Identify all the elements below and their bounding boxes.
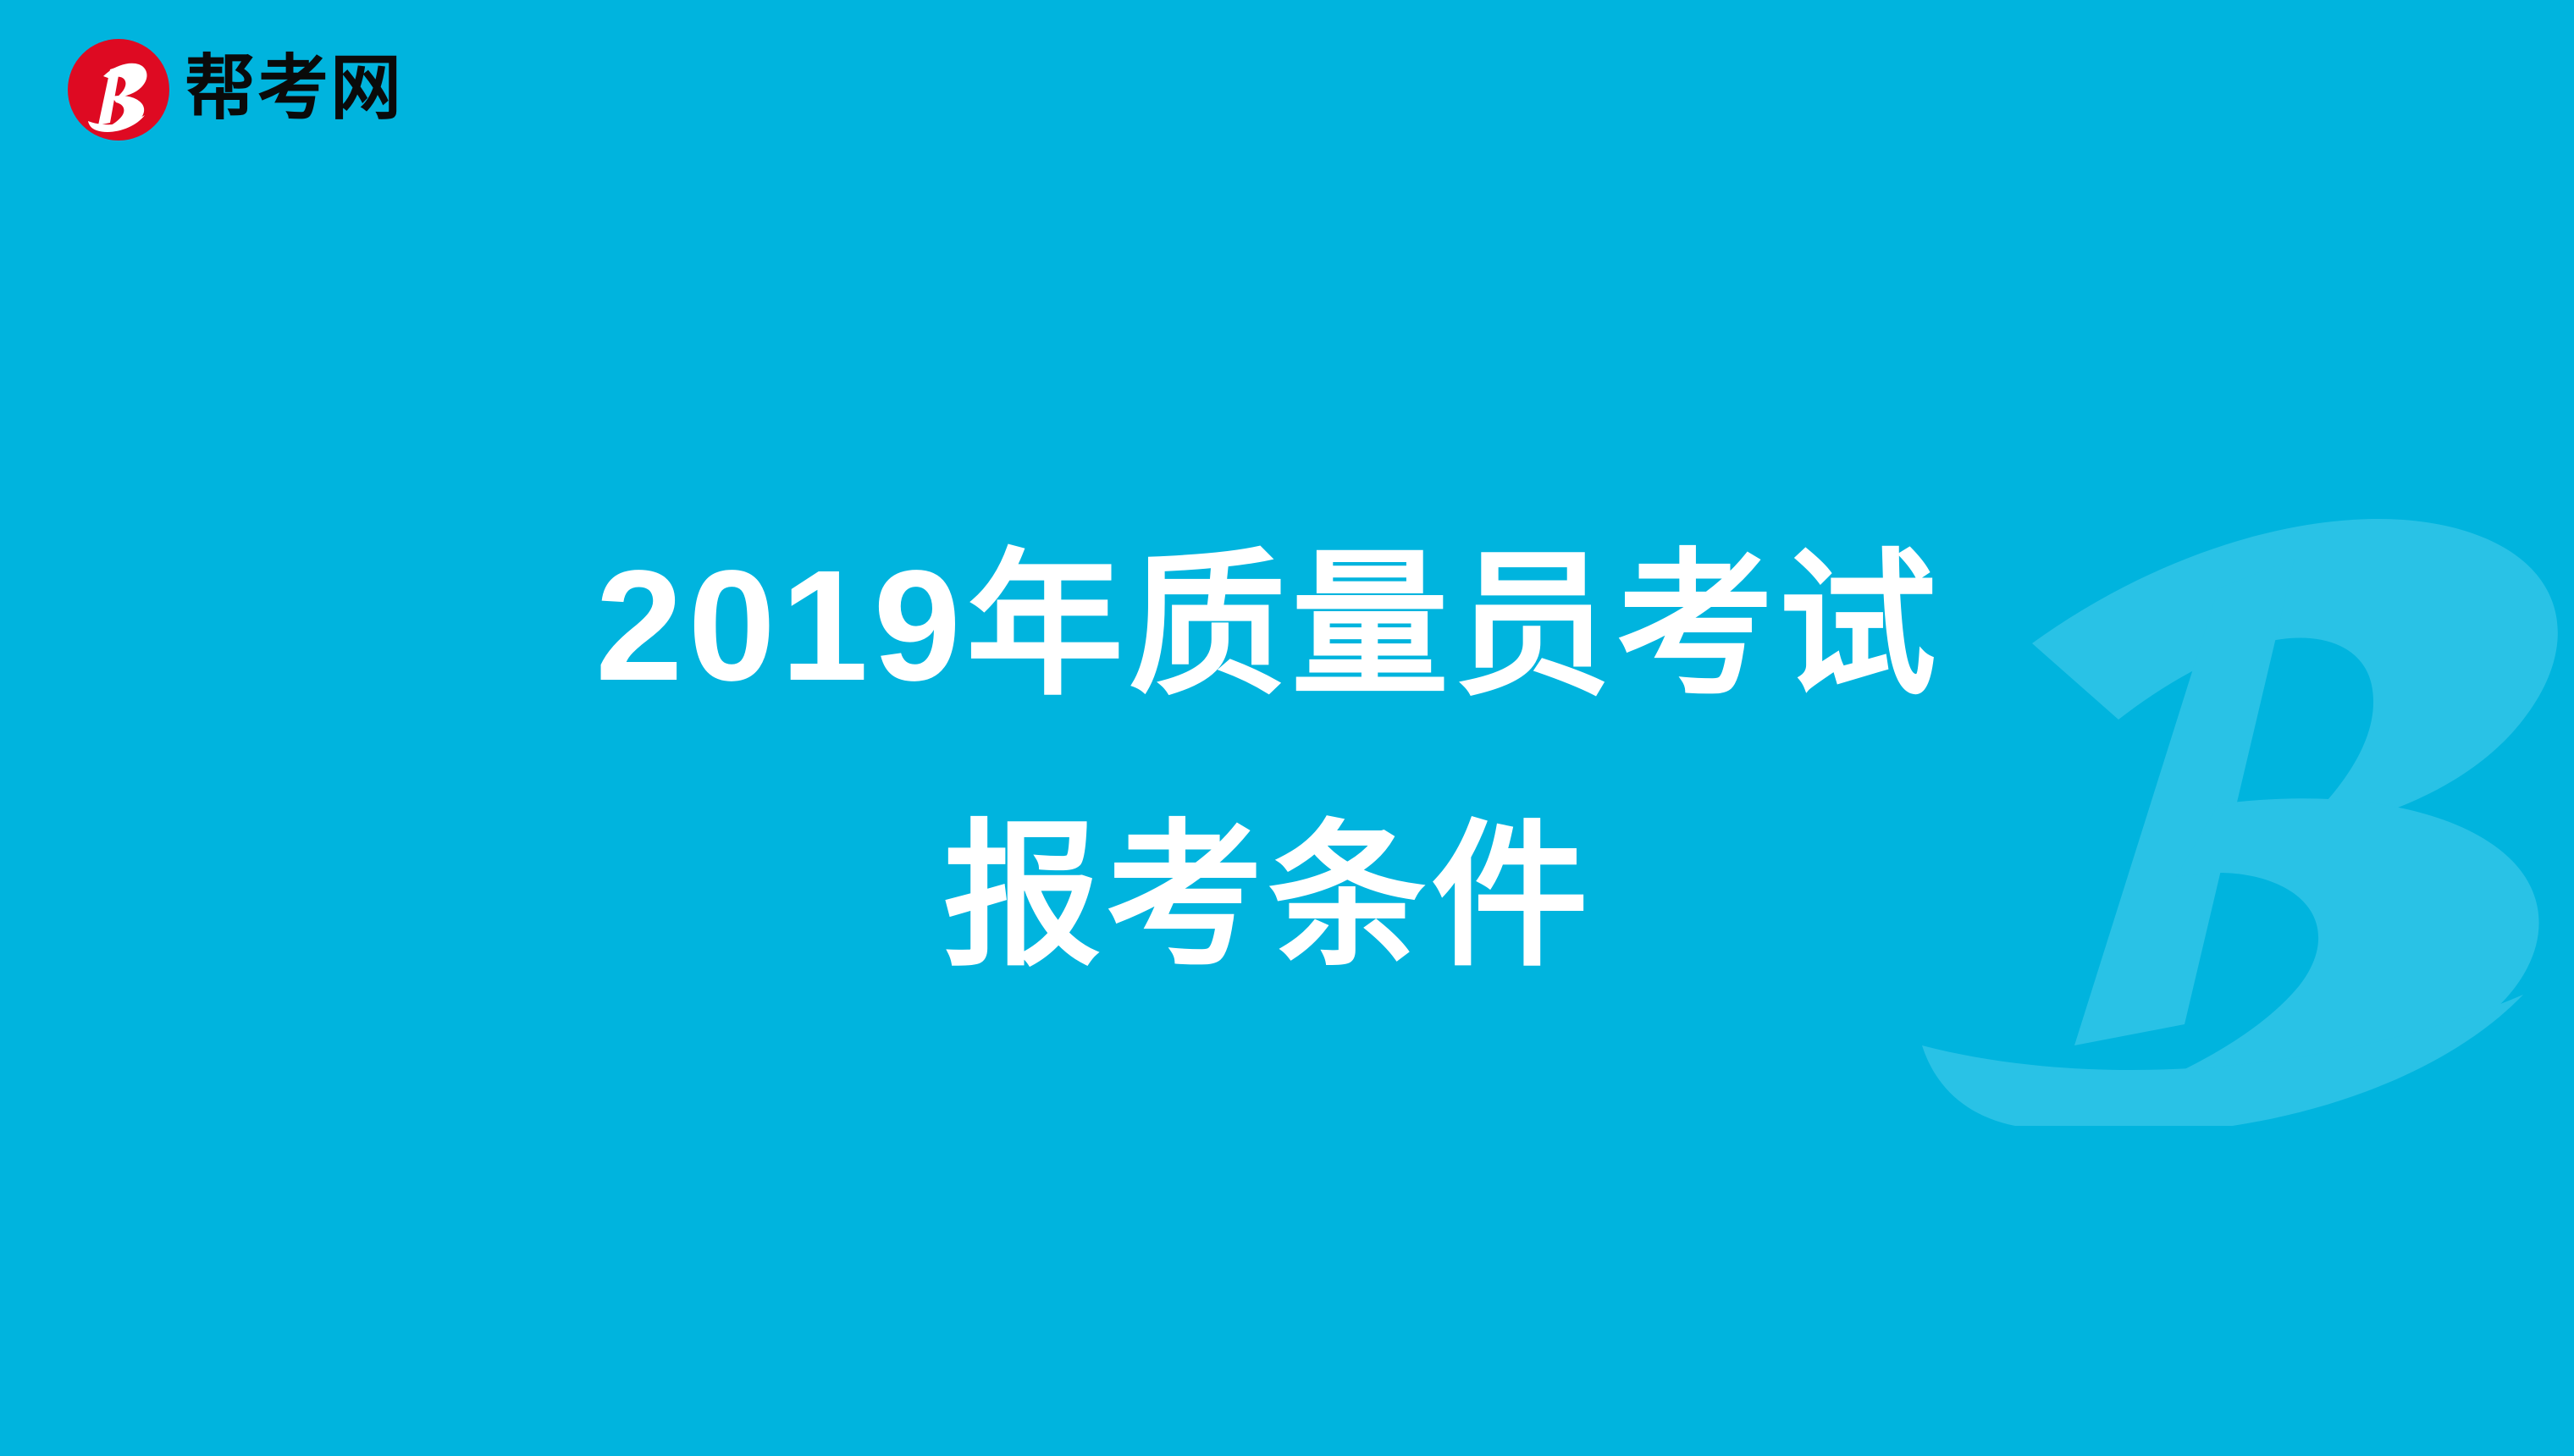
brand-logo[interactable]: 帮考网 xyxy=(66,37,403,142)
page-title-line-1: 2019年质量员考试 xyxy=(0,491,2555,762)
slide-canvas: 帮考网 2019年质量员考试 报考条件 xyxy=(0,0,2574,1456)
brand-wordmark: 帮考网 xyxy=(185,52,403,127)
bangkao-b-logo-icon xyxy=(66,37,171,142)
page-title-line-2: 报考条件 xyxy=(0,762,2555,1033)
page-title: 2019年质量员考试 报考条件 xyxy=(0,491,2574,1033)
